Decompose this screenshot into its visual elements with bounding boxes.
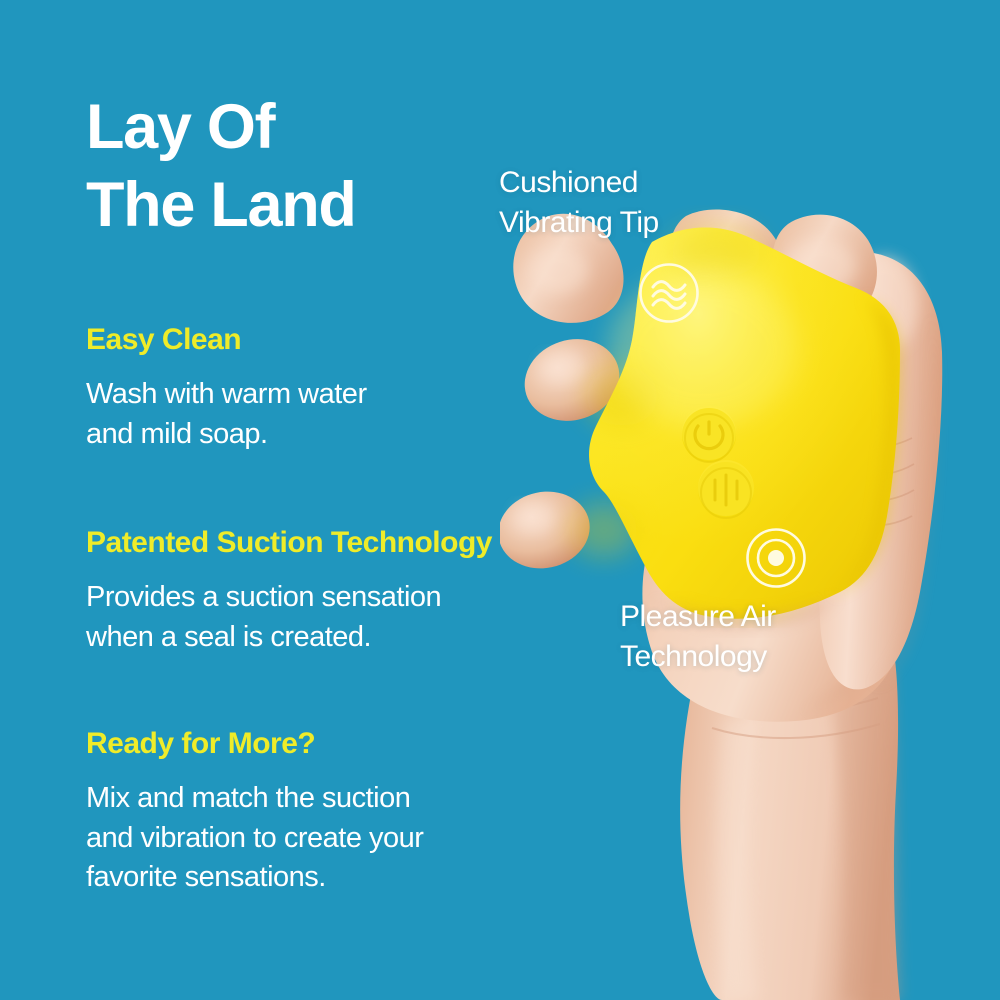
- feature-heading: Easy Clean: [86, 322, 566, 358]
- page-title: Lay Of The Land: [86, 88, 556, 244]
- text-column: Lay Of The Land: [86, 88, 556, 244]
- callout-cushioned-vibrating-tip: Cushioned Vibrating Tip: [499, 163, 659, 243]
- feature-ready-for-more: Ready for More? Mix and match the suctio…: [86, 726, 566, 898]
- concentric-target-icon: [745, 527, 807, 589]
- vibration-waves-icon: [638, 262, 700, 324]
- feature-body: Wash with warm water and mild soap.: [86, 375, 566, 454]
- feature-heading: Ready for More?: [86, 726, 566, 762]
- feature-body: Mix and match the suction and vibration …: [86, 779, 566, 898]
- feature-easy-clean: Easy Clean Wash with warm water and mild…: [86, 322, 566, 454]
- feature-patented-suction-technology: Patented Suction Technology Provides a s…: [86, 525, 566, 657]
- intensity-button: [698, 460, 754, 518]
- feature-heading: Patented Suction Technology: [86, 525, 566, 561]
- callout-pleasure-air-technology: Pleasure Air Technology: [620, 597, 776, 677]
- feature-body: Provides a suction sensation when a seal…: [86, 578, 566, 657]
- power-button: [682, 406, 736, 462]
- infographic-page: Cushioned Vibrating Tip Pleasure Air Tec…: [0, 0, 1000, 1000]
